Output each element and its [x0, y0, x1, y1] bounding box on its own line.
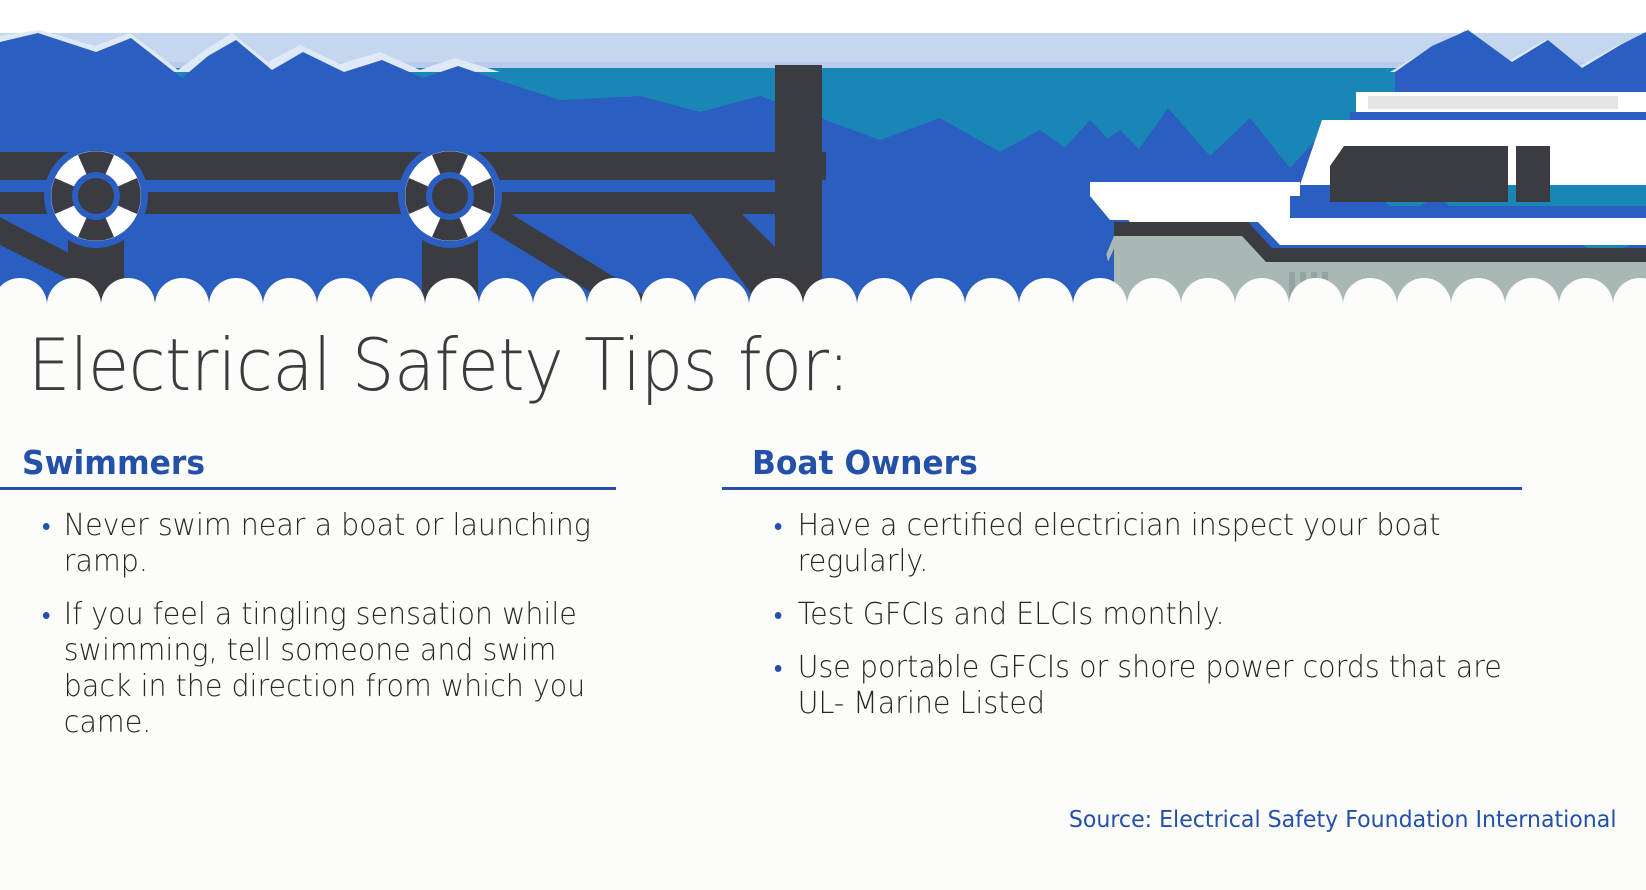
- marina-scene-svg: [0, 0, 1646, 305]
- boat-blue-stripe: [1290, 206, 1646, 218]
- boat-window-small: [1516, 146, 1550, 202]
- life-preserver-ring-left: [44, 144, 148, 248]
- boat-upper-trim: [1350, 112, 1646, 120]
- tip-text: Test GFCIs and ELCIs monthly.: [798, 597, 1225, 632]
- tip-text: If you feel a tingling sensation while s…: [64, 597, 585, 740]
- section-rule-swimmers: [0, 487, 616, 490]
- tip-text: Use portable GFCIs or shore power cords …: [798, 650, 1502, 721]
- list-item: Use portable GFCIs or shore power cords …: [752, 650, 1512, 722]
- header-illustration: [0, 0, 1646, 305]
- bullet-dot-icon: [43, 523, 50, 530]
- bullet-dot-icon: [775, 612, 782, 619]
- list-item: Have a certified electrician inspect you…: [752, 508, 1512, 580]
- dock-post-main: [775, 65, 822, 305]
- section-heading-swimmers: Swimmers: [22, 444, 611, 482]
- list-item: If you feel a tingling sensation while s…: [22, 597, 611, 741]
- list-item: Never swim near a boat or launching ramp…: [22, 508, 611, 580]
- list-item: Test GFCIs and ELCIs monthly.: [752, 597, 1512, 633]
- tips-list-boat-owners: Have a certified electrician inspect you…: [752, 508, 1552, 722]
- bullet-dot-icon: [43, 612, 50, 619]
- tips-list-swimmers: Never swim near a boat or launching ramp…: [22, 508, 642, 741]
- section-rule-boat-owners: [722, 487, 1522, 490]
- column-boat-owners: Boat Owners Have a certified electrician…: [752, 444, 1552, 739]
- tip-text: Have a certified electrician inspect you…: [798, 508, 1441, 579]
- ring-hub: [78, 178, 114, 214]
- boat-upper-window: [1368, 96, 1618, 109]
- tip-text: Never swim near a boat or launching ramp…: [64, 508, 591, 579]
- bullet-dot-icon: [775, 523, 782, 530]
- section-heading-boat-owners: Boat Owners: [752, 444, 1512, 482]
- page-title: Electrical Safety Tips for:: [28, 326, 850, 404]
- boat-window-long: [1330, 146, 1508, 202]
- bullet-dot-icon: [775, 665, 782, 672]
- column-swimmers: Swimmers Never swim near a boat or launc…: [22, 444, 642, 758]
- life-preserver-ring-right: [398, 144, 502, 248]
- ring-hub: [432, 178, 468, 214]
- source-attribution: Source: Electrical Safety Foundation Int…: [1068, 806, 1616, 834]
